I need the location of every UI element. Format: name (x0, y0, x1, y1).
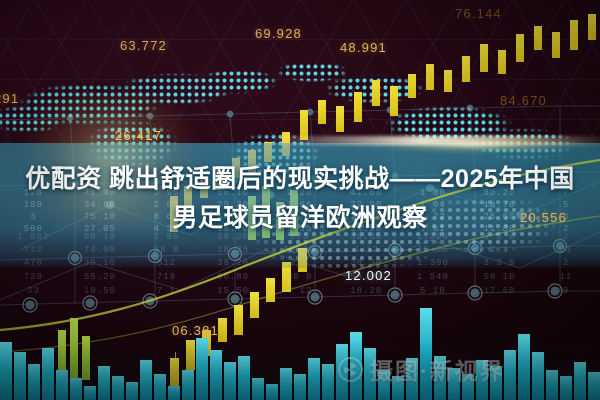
numeric-callout: 84.670 (500, 93, 547, 108)
data-cell: 7 1 (133, 286, 200, 296)
data-cell: 712 (0, 245, 67, 255)
data-cell: 56 10 (466, 272, 533, 282)
headline-line-1: 优配资 跳出舒适圈后的现实挑战——2025年中国 (25, 165, 575, 193)
data-cell: 478 (0, 258, 67, 268)
data-cell: 720 (0, 272, 67, 282)
numeric-callout: 12.002 (345, 268, 392, 283)
headline-text: 优配资 跳出舒适圈后的现实挑战——2025年中国 男足球员留洋欧洲观察 (0, 160, 600, 238)
data-cell: 38.20 (200, 258, 267, 268)
data-cell: 75 20 (400, 245, 467, 255)
data-cell: 11 (533, 272, 600, 282)
numeric-callout: 48.991 (340, 40, 387, 55)
numeric-callout: 291 (0, 91, 19, 106)
aperture-icon (338, 357, 363, 382)
data-cell: 38.30 (333, 258, 400, 268)
data-cell: 9 (533, 286, 600, 296)
data-table-row: 72055.2071956.8080 058.001 54056 1011 (0, 272, 600, 282)
data-cell: 74.00 (67, 245, 134, 255)
data-cell: 38.10 (67, 258, 134, 268)
data-cell: 18.20 (333, 286, 400, 296)
numeric-callout: 63.772 (120, 38, 167, 53)
data-cell: 2 (533, 258, 600, 268)
data-cell: 31 (533, 245, 600, 255)
data-cell: 33 (0, 286, 67, 296)
data-cell: 18.25 (200, 245, 267, 255)
numeric-callout: 69.928 (255, 26, 302, 41)
data-cell: 612 (133, 258, 200, 268)
numeric-callout: 76.144 (455, 6, 502, 21)
data-cell: 38 0 (133, 245, 200, 255)
data-cell: 7 12 (266, 286, 333, 296)
banner-image: 12871.403 9556.102 2041.601 8830.2071093… (0, 0, 600, 400)
data-table-row: 71274.0038 018.2556.804 1275 202 131 (0, 245, 600, 255)
numeric-callout: 06.381 (172, 323, 219, 338)
light-streak-core (260, 136, 600, 145)
data-cell: 55.20 (67, 272, 134, 282)
data-cell: 15.50 (200, 286, 267, 296)
data-cell: 273 (266, 258, 333, 268)
data-cell: 3 3 0 (466, 258, 533, 268)
data-cell: 18.50 (67, 286, 134, 296)
data-cell: 719 (133, 272, 200, 282)
numeric-callout: 26.417 (115, 128, 162, 143)
watermark-text: 摄图·新视界 (370, 352, 505, 386)
data-cell: 2 1 (466, 245, 533, 255)
data-cell: 5 18 (400, 286, 467, 296)
bottom-fade (0, 340, 600, 400)
data-table-row: 3318.507 115.507 1218.205 1817.609 (0, 286, 600, 296)
data-cell: 56.80 (266, 245, 333, 255)
watermark: 摄图·新视界 (338, 352, 505, 386)
data-cell: 1 540 (400, 272, 467, 282)
headline-line-2: 男足球员留洋欧洲观察 (6, 199, 594, 238)
data-cell: 1.390 (400, 258, 467, 268)
data-cell: 56.80 (200, 272, 267, 282)
data-cell: 80 0 (266, 272, 333, 282)
data-cell: 17.60 (466, 286, 533, 296)
data-cell: 4 12 (333, 245, 400, 255)
data-table-row: 47838.1061238.2027338.301.3903 3 02 (0, 258, 600, 268)
